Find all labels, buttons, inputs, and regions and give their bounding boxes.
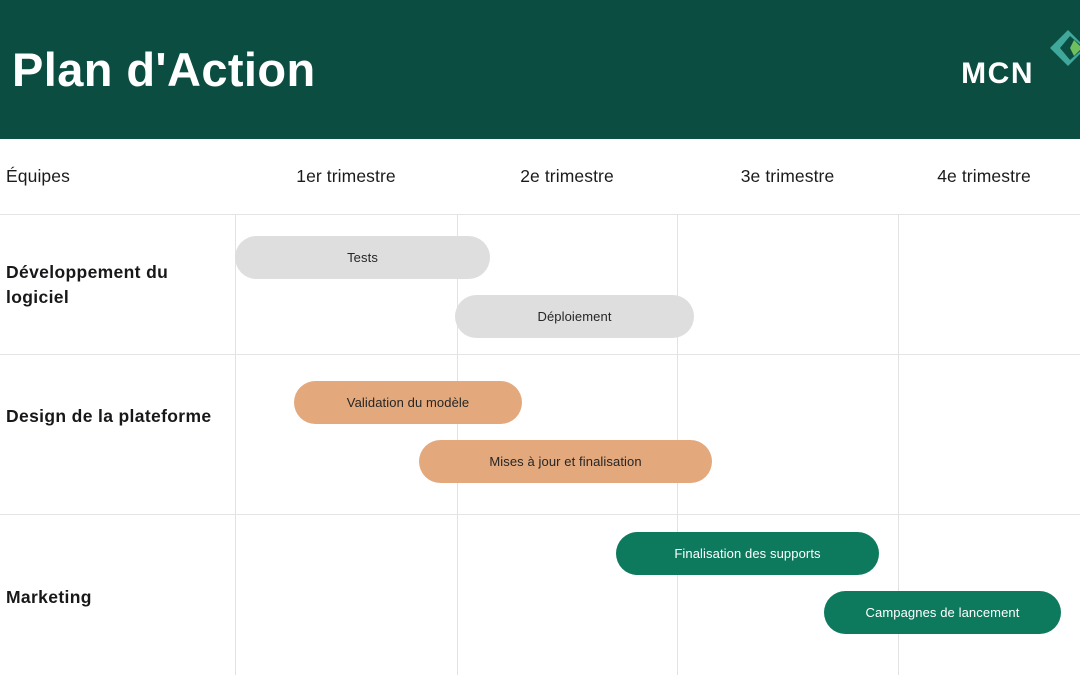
gantt-bar-mises-a-jour-et-finalisation[interactable]: Mises à jour et finalisation: [419, 440, 712, 483]
slide-canvas: Plan d'Action MCN Équipes 1er trimestre …: [0, 0, 1080, 675]
row-label-marketing: Marketing: [6, 585, 231, 610]
brand-logo-text: MCN: [961, 56, 1034, 92]
column-header-q2: 2e trimestre: [457, 139, 677, 214]
gantt-bar-finalisation-des-supports[interactable]: Finalisation des supports: [616, 532, 879, 575]
row-label-developpement-du-logiciel: Développement du logiciel: [6, 260, 231, 310]
gantt-bar-campagnes-de-lancement[interactable]: Campagnes de lancement: [824, 591, 1061, 634]
gantt-bar-deploiement[interactable]: Déploiement: [455, 295, 694, 338]
row-label-design-de-la-plateforme: Design de la plateforme: [6, 404, 231, 429]
column-header-q1: 1er trimestre: [235, 139, 457, 214]
column-header-q4: 4e trimestre: [898, 139, 1070, 214]
gantt-grid: Développement du logiciel Tests Déploiem…: [0, 214, 1080, 675]
column-header-q3: 3e trimestre: [677, 139, 898, 214]
column-header-equipes: Équipes: [6, 139, 235, 214]
gridline-vertical-q1: [235, 214, 236, 675]
diamond-chevron-icon: [1048, 28, 1080, 68]
page-title: Plan d'Action: [12, 38, 316, 102]
slide-header: Plan d'Action MCN: [0, 0, 1080, 139]
gridline-horizontal-row1: [0, 354, 1080, 355]
gantt-bar-tests[interactable]: Tests: [235, 236, 490, 279]
table-column-header-row: Équipes 1er trimestre 2e trimestre 3e tr…: [0, 139, 1080, 214]
gantt-bar-validation-du-modele[interactable]: Validation du modèle: [294, 381, 522, 424]
gridline-horizontal-top: [0, 214, 1080, 215]
gridline-horizontal-row2: [0, 514, 1080, 515]
